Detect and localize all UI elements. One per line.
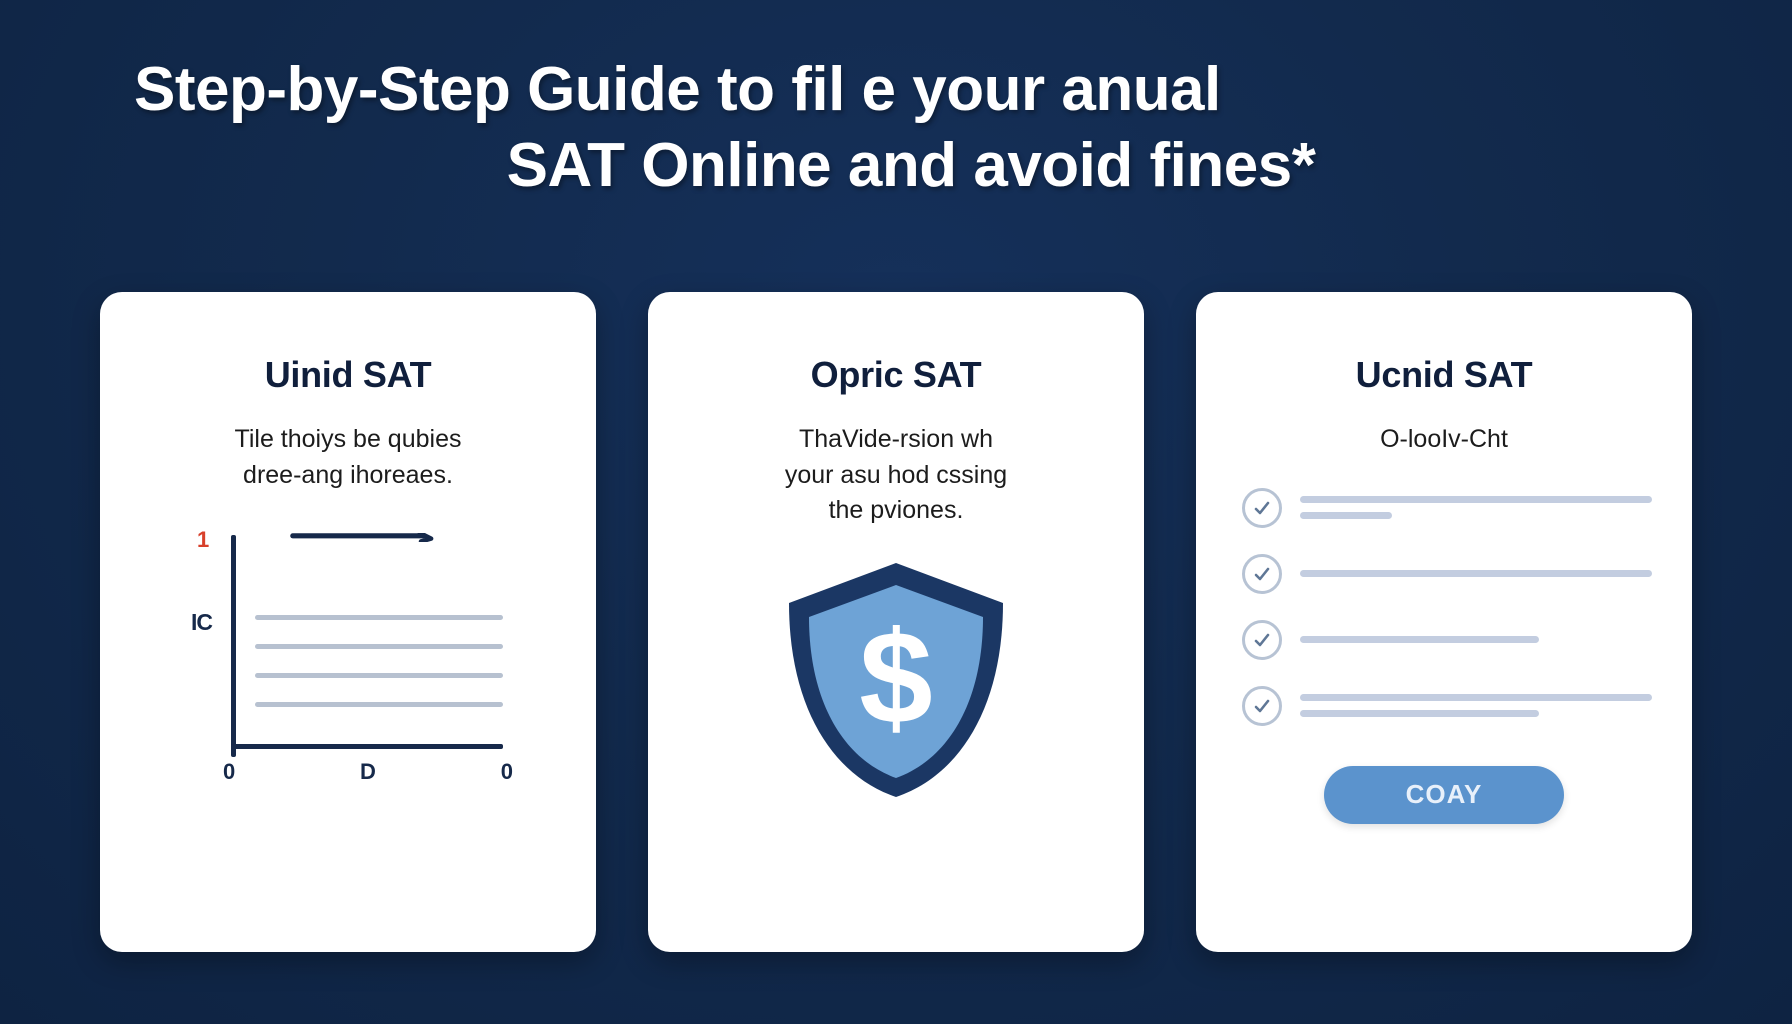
check-icon[interactable]	[1242, 620, 1282, 660]
chart-y-axis	[231, 535, 236, 757]
card-ucnid-sat[interactable]: Ucnid SAT O-looIv-Cht	[1196, 292, 1692, 952]
card-body: ThaVide-rsion wh your asu hod cssing the…	[785, 422, 1007, 529]
placeholder-line	[1300, 694, 1652, 701]
chart-x-axis	[231, 744, 503, 749]
card-body-line-1: O-looIv-Cht	[1380, 425, 1508, 453]
checklist	[1236, 488, 1652, 726]
chart-x-ticks: 0 D 0	[223, 759, 513, 785]
chart-trend-line-icon	[233, 533, 501, 542]
chart-gridline	[255, 702, 503, 707]
list-item[interactable]	[1242, 686, 1652, 726]
placeholder-line	[1300, 496, 1652, 503]
card-unid-sat[interactable]: Uinid SAT Tile thoiys be qubies dree-ang…	[100, 292, 596, 952]
list-item[interactable]	[1242, 554, 1652, 594]
chart-gridline	[255, 644, 503, 649]
card-title: Ucnid SAT	[1356, 354, 1533, 396]
page-title: Step-by-Step Guide to fil e your anual S…	[0, 52, 1792, 205]
placeholder-line	[1300, 570, 1652, 577]
chart-y-tick-mid: IC	[191, 609, 212, 636]
chart-gridlines	[255, 615, 503, 731]
placeholder-line	[1300, 636, 1539, 643]
chart-x-tick: 0	[223, 759, 235, 785]
list-item[interactable]	[1242, 488, 1652, 528]
copy-button[interactable]: COAY	[1324, 766, 1564, 824]
card-row: Uinid SAT Tile thoiys be qubies dree-ang…	[100, 292, 1692, 952]
list-item-lines	[1300, 570, 1652, 577]
card-opric-sat[interactable]: Opric SAT ThaVide-rsion wh your asu hod …	[648, 292, 1144, 952]
check-icon[interactable]	[1242, 686, 1282, 726]
card-body-line-2: dree-ang ihoreaes.	[243, 461, 453, 489]
card-body-line-3: the pviones.	[829, 496, 964, 524]
check-icon[interactable]	[1242, 488, 1282, 528]
chart-x-tick: D	[360, 759, 376, 785]
card-title: Opric SAT	[811, 354, 982, 396]
line-chart: 1 IC 0 D 0	[183, 527, 513, 787]
placeholder-line	[1300, 710, 1539, 717]
card-body-line-2: your asu hod cssing	[785, 461, 1007, 489]
title-line-1: Step-by-Step Guide to fil e your anual	[120, 52, 1672, 128]
check-icon[interactable]	[1242, 554, 1282, 594]
chart-gridline	[255, 615, 503, 620]
list-item-lines	[1300, 636, 1652, 643]
list-item-lines	[1300, 496, 1652, 519]
svg-text:$: $	[859, 604, 932, 751]
placeholder-line	[1300, 512, 1392, 519]
card-title: Uinid SAT	[265, 354, 432, 396]
shield-dollar-illustration: $	[781, 555, 1011, 805]
title-line-2: SAT Online and avoid fines*	[120, 128, 1672, 204]
chart-gridline	[255, 673, 503, 678]
list-item[interactable]	[1242, 620, 1652, 660]
card-body: O-looIv-Cht	[1380, 422, 1508, 458]
chart-x-tick: 0	[501, 759, 513, 785]
shield-dollar-icon: $	[781, 555, 1011, 805]
card-body-line-1: Tile thoiys be qubies	[235, 425, 462, 453]
chart-y-tick-top: 1	[197, 527, 209, 553]
card-body-line-1: ThaVide-rsion wh	[799, 425, 993, 453]
card-body: Tile thoiys be qubies dree-ang ihoreaes.	[235, 422, 462, 493]
list-item-lines	[1300, 694, 1652, 717]
infographic-canvas: Step-by-Step Guide to fil e your anual S…	[0, 0, 1792, 1024]
